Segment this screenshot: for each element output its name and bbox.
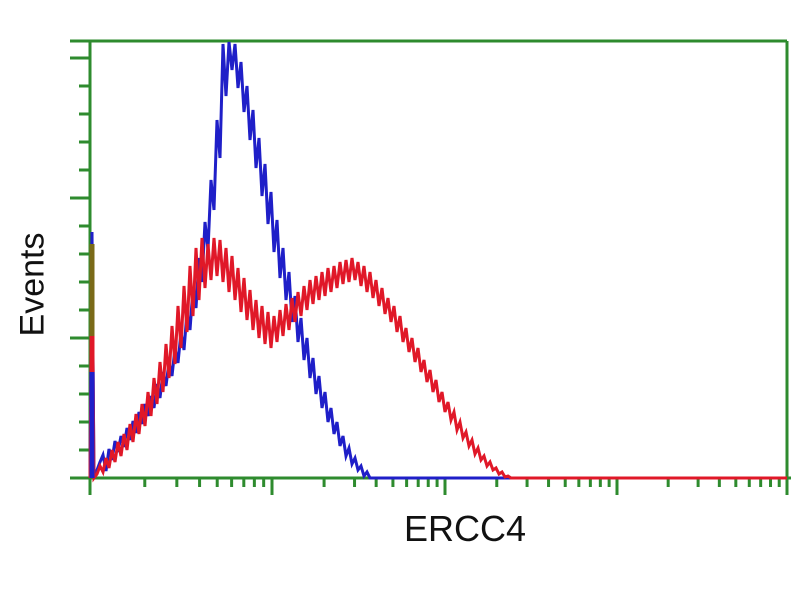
- trace-red: [90, 238, 787, 478]
- trace-group: [90, 42, 787, 478]
- axis-frame: [70, 41, 791, 495]
- histogram-svg: [0, 0, 800, 600]
- plot-area: [0, 0, 800, 600]
- flow-cytometry-figure: Events ERCC4: [0, 0, 800, 600]
